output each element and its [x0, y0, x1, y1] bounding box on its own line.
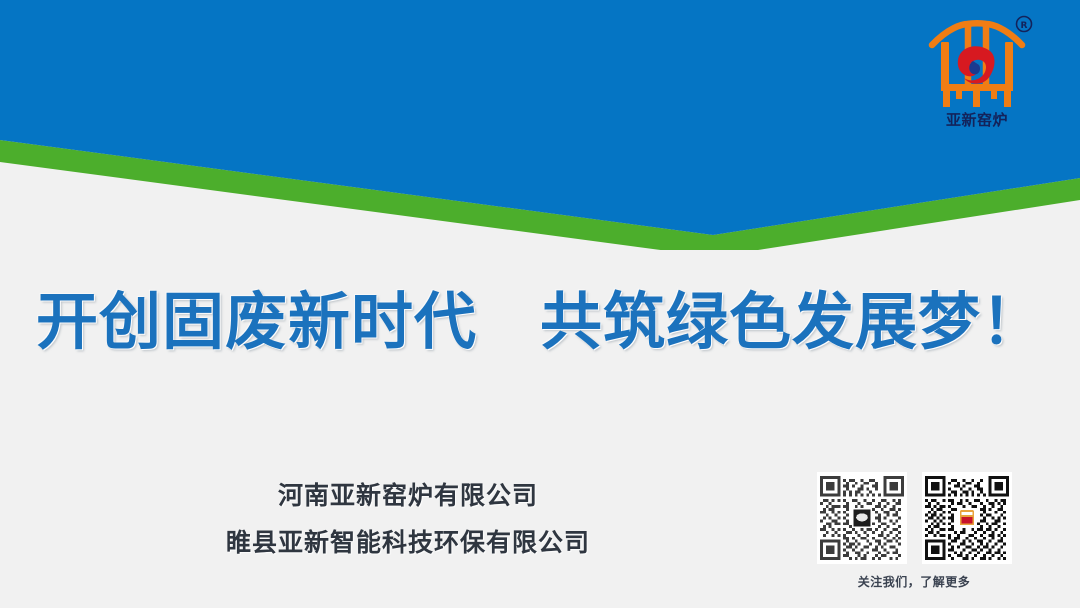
company-names: 河南亚新窑炉有限公司 睢县亚新智能科技环保有限公司 [78, 472, 738, 566]
qr-caption: 关注我们，了解更多 [806, 573, 1022, 590]
company-name-line-1: 河南亚新窑炉有限公司 [78, 472, 738, 519]
qr-center-logo-dark [851, 508, 871, 528]
header-green-stripe [0, 140, 1080, 250]
logo-wordmark: 亚新窑炉 [946, 111, 1008, 129]
page-title: 开创固废新时代 共筑绿色发展梦！ [0, 288, 1080, 356]
svg-text:R: R [1021, 21, 1028, 31]
logo: R [918, 12, 1036, 130]
registered-trademark-icon: R [1017, 17, 1032, 32]
qr-row [806, 472, 1022, 564]
main-title-text: 开创固废新时代 共筑绿色发展梦！ [36, 288, 1044, 356]
qr-center-logo-gold [956, 508, 976, 528]
qr-code-wechat-mini[interactable] [922, 472, 1012, 564]
qr-code-wechat-official[interactable] [817, 472, 907, 564]
presentation-slide: R [0, 0, 1080, 608]
qr-section: 关注我们，了解更多 [806, 472, 1022, 590]
company-name-line-2: 睢县亚新智能科技环保有限公司 [78, 519, 738, 566]
